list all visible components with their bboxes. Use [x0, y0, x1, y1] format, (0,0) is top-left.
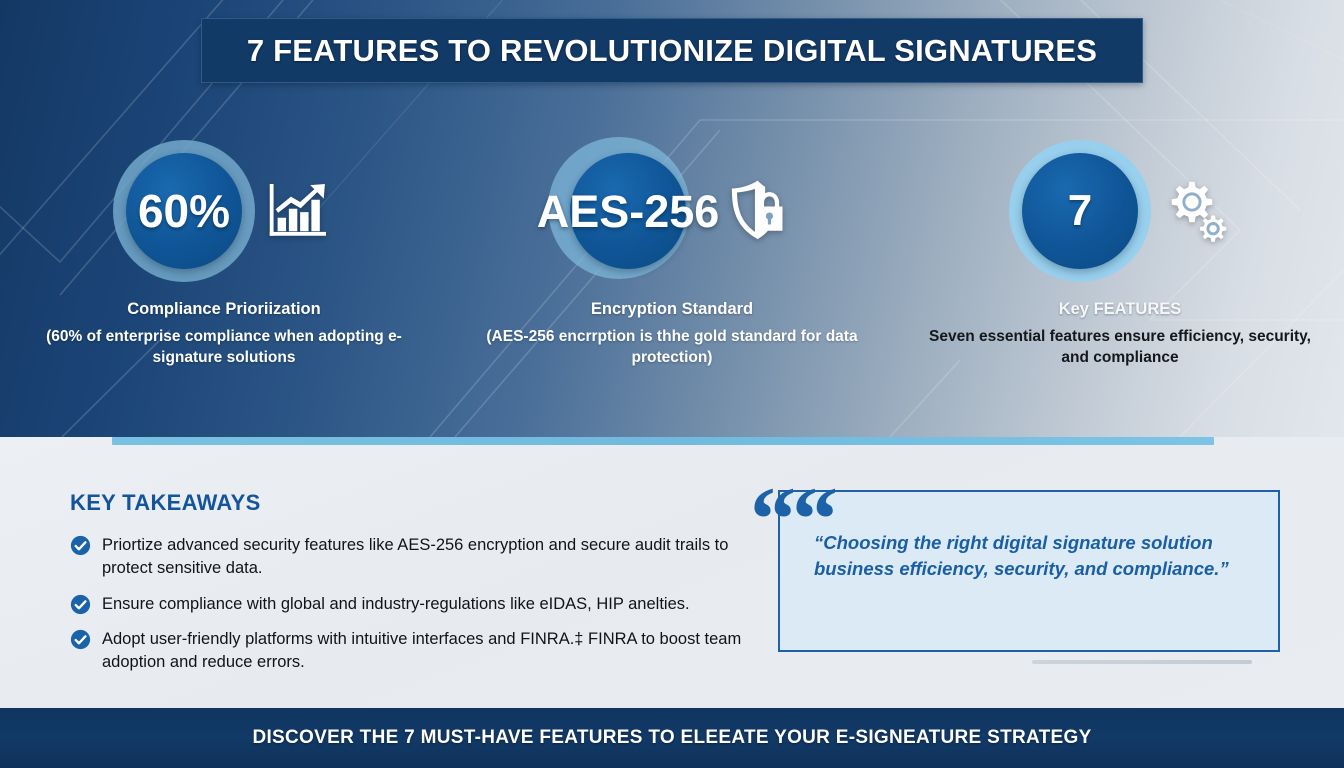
stat-description: (AES-256 encrrption is thhe gold standar… — [476, 326, 868, 369]
gears-icon — [1159, 175, 1231, 247]
key-takeaways-block: KEY TAKEAWAYS Priortize advanced securit… — [70, 490, 760, 687]
title-banner: 7 FEATURES TO REVOLUTIONIZE DIGITAL SIGN… — [201, 18, 1143, 83]
stat-label: Compliance Prioriization — [28, 300, 420, 319]
stat-label: Key FEATURES — [924, 300, 1316, 319]
infographic-page: 7 FEATURES TO REVOLUTIONIZE DIGITAL SIGN… — [0, 0, 1344, 768]
list-item: Adopt user-friendly platforms with intui… — [70, 628, 760, 674]
stat-text: Key FEATURES Seven essential features en… — [896, 300, 1344, 369]
stat-circle: 7 — [1009, 140, 1151, 282]
hero-section: 7 FEATURES TO REVOLUTIONIZE DIGITAL SIGN… — [0, 0, 1344, 437]
list-item: Priortize advanced security features lik… — [70, 534, 760, 580]
stat-visual: 7 — [896, 140, 1344, 282]
stat-card-compliance: 60% — [0, 140, 448, 390]
footer-cta-text: DISCOVER THE 7 MUST-HAVE FEATURES TO ELE… — [252, 727, 1091, 749]
stat-value: 7 — [1068, 189, 1092, 233]
stat-value: 60% — [138, 188, 230, 234]
list-item: Ensure compliance with global and indust… — [70, 593, 760, 616]
check-circle-icon — [70, 629, 91, 650]
page-title: 7 FEATURES TO REVOLUTIONIZE DIGITAL SIGN… — [247, 33, 1097, 69]
stat-text: Compliance Prioriization (60% of enterpr… — [0, 300, 448, 369]
list-item-text: Adopt user-friendly platforms with intui… — [102, 628, 760, 674]
stats-row: 60% — [0, 140, 1344, 390]
stat-text: Encryption Standard (AES-256 encrrption … — [448, 300, 896, 369]
circle-disc: 60% — [126, 153, 242, 269]
stat-label: Encryption Standard — [476, 300, 868, 319]
section-divider-accent — [112, 437, 1214, 445]
stat-circle: AES-256 — [548, 137, 708, 285]
footer-cta-banner: DISCOVER THE 7 MUST-HAVE FEATURES TO ELE… — [0, 708, 1344, 768]
shield-lock-icon — [724, 175, 796, 247]
list-item-text: Priortize advanced security features lik… — [102, 534, 760, 580]
stat-description: Seven essential features ensure efficien… — [924, 326, 1316, 369]
key-takeaways-title: KEY TAKEAWAYS — [70, 490, 760, 516]
quote-underline-rule — [1032, 660, 1252, 664]
check-circle-icon — [70, 535, 91, 556]
check-circle-icon — [70, 594, 91, 615]
list-item-text: Ensure compliance with global and indust… — [102, 593, 690, 616]
stat-card-encryption: AES-256 — [448, 140, 896, 390]
stat-description: (60% of enterprise compliance when adopt… — [28, 326, 420, 369]
stat-value: AES-256 — [515, 137, 741, 285]
quote-block: ““ “Choosing the right digital signature… — [750, 480, 1280, 662]
circle-disc: 7 — [1022, 153, 1138, 269]
stat-visual: AES-256 — [448, 140, 896, 282]
quote-text: “Choosing the right digital signature so… — [814, 530, 1254, 583]
stat-circle: 60% — [113, 140, 255, 282]
bar-chart-growth-icon — [263, 175, 335, 247]
stat-visual: 60% — [0, 140, 448, 282]
stat-card-features: 7 — [896, 140, 1344, 390]
